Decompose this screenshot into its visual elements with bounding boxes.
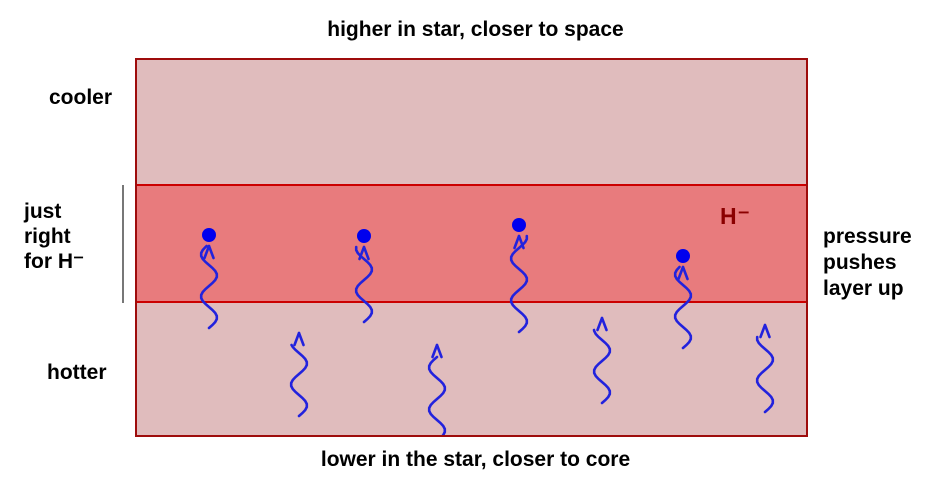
upper-band-cooler <box>137 60 806 184</box>
label-pressure-pushes-layer-up: pressure pushes layer up <box>823 224 912 302</box>
middle-band-h-minus <box>137 184 806 303</box>
middle-band-range-indicator <box>122 185 124 303</box>
bottom-caption: lower in the star, closer to core <box>0 448 951 472</box>
label-just-right-for-h-minus: just right for H⁻ <box>24 199 84 274</box>
star-layer-box: H⁻ <box>135 58 808 437</box>
label-hotter: hotter <box>47 360 107 385</box>
stellar-opacity-diagram: higher in star, closer to space cooler j… <box>0 0 951 498</box>
label-cooler: cooler <box>49 85 112 110</box>
top-caption: higher in star, closer to space <box>0 18 951 42</box>
h-minus-species-label: H⁻ <box>720 203 751 230</box>
lower-band-hotter <box>137 303 806 437</box>
